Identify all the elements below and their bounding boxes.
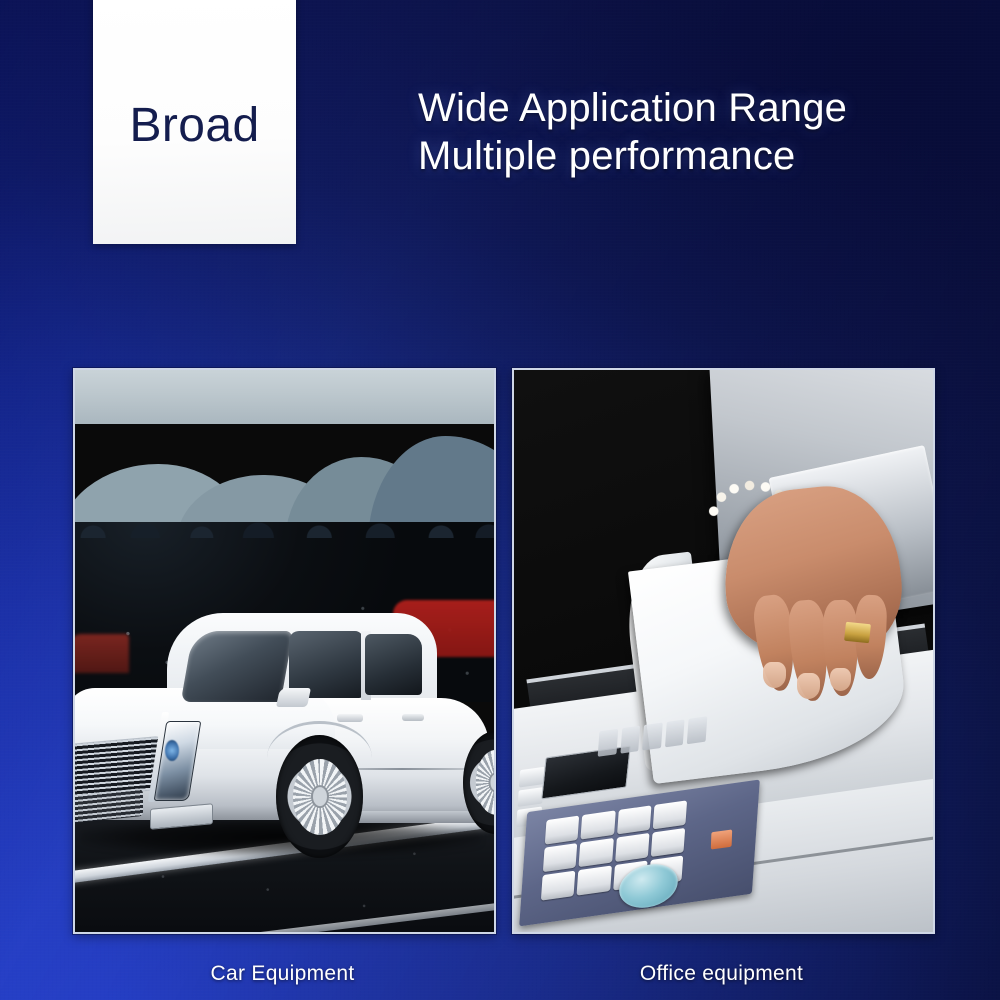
copier-function-key [687, 716, 707, 744]
caption-office-equipment: Office equipment [512, 962, 931, 986]
copier-key [615, 833, 650, 862]
broad-badge-card: Broad [93, 0, 296, 244]
copier-function-key [597, 729, 617, 757]
white-sedan [75, 617, 494, 853]
copier-photo [514, 370, 933, 932]
copier-key [543, 843, 578, 872]
copier-soft-key [519, 767, 545, 788]
sky-gradient [75, 370, 494, 424]
copier-key [651, 828, 686, 857]
headline-line-1: Wide Application Range [418, 84, 958, 132]
copier-key [579, 838, 614, 867]
caption-car-equipment: Car Equipment [73, 962, 492, 986]
copier-function-key [642, 723, 662, 751]
copier-key [581, 811, 616, 840]
copier-key [577, 866, 612, 895]
photo-panel-office [512, 368, 935, 934]
headline-block: Wide Application Range Multiple performa… [418, 84, 958, 180]
copier-key [545, 816, 580, 845]
promo-banner: Broad Wide Application Range Multiple pe… [0, 0, 1000, 1000]
photo-panel-car [73, 368, 496, 934]
fingernail-1 [763, 662, 786, 687]
car-side-mirror [276, 688, 311, 707]
car-door-handle-front [337, 714, 363, 722]
car-door-handle-rear [402, 714, 424, 721]
car-rear-wheel-hub [476, 750, 494, 814]
car-photo [75, 370, 494, 932]
copier-function-key [665, 719, 685, 747]
copier-key [617, 806, 652, 835]
broad-badge-label: Broad [129, 98, 259, 153]
copier-key [541, 871, 576, 900]
fingernail-2 [797, 673, 820, 698]
copier-function-key [620, 726, 640, 754]
gold-ring [844, 622, 871, 644]
copier-soft-key [518, 787, 544, 808]
car-rear-door-window [365, 634, 422, 695]
car-windshield [180, 631, 293, 702]
copier-stop-button [711, 829, 732, 849]
car-front-wheel-hub [293, 759, 347, 835]
car-front-wheel [276, 735, 363, 858]
copier-key [653, 800, 688, 829]
headline-line-2: Multiple performance [418, 132, 958, 180]
